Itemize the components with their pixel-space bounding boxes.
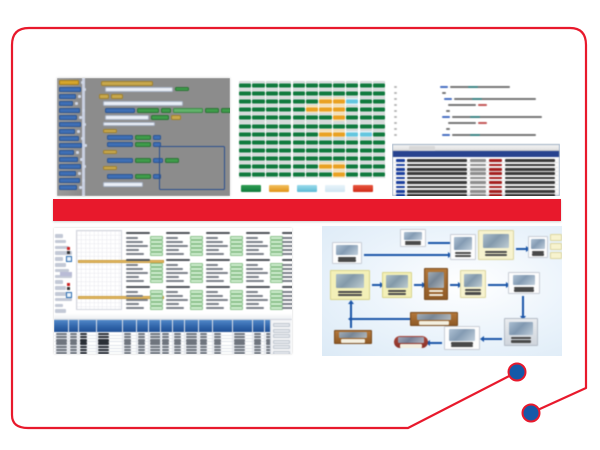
palette-item-0 [59, 80, 79, 85]
sheet-chip-1-2-0 [190, 290, 203, 293]
sheet-chip-1-2-4 [190, 306, 203, 309]
sheet-line-0-0-2 [126, 245, 148, 247]
sheet-line-2-1-3 [206, 276, 219, 278]
gantt-schedule-view[interactable] [54, 228, 292, 314]
workspace-block-10 [205, 108, 219, 113]
log-message-2 [407, 168, 467, 171]
node-barcode-label[interactable] [508, 272, 540, 294]
sheet-block-1-1 [166, 259, 204, 283]
sheet-chip-1-0-4 [190, 252, 203, 255]
node-barcode-scanner-label-1 [511, 340, 531, 342]
log-code-6 [489, 186, 502, 189]
palette-item-dot-13 [78, 172, 81, 176]
panel-code-and-log[interactable] [392, 82, 560, 196]
sheet-block-title-4-0 [282, 232, 292, 234]
palette-item-15 [59, 185, 77, 190]
node-checklist-panel-pictogram [483, 234, 509, 249]
log-level-1 [396, 164, 405, 167]
node-unloading[interactable] [382, 272, 412, 298]
sheet-chip-1-1-4 [190, 279, 203, 282]
sheet-block-2-2 [206, 286, 244, 310]
sheet-line-3-1-1 [246, 268, 263, 270]
code-keyword-0 [440, 86, 448, 88]
grid-cell-11-7 [333, 171, 345, 178]
log-code-5 [489, 181, 502, 184]
sheet-chip-2-0-0 [230, 236, 243, 239]
panel-spreadsheet[interactable] [54, 228, 292, 354]
node-right-labels[interactable] [550, 234, 562, 258]
node-inbound-complete[interactable] [394, 336, 428, 348]
log-time-2 [470, 168, 486, 171]
sheet-line-1-2-1 [166, 295, 183, 297]
sheet-block-title-2-2 [206, 286, 230, 288]
sheet-line-0-2-0 [126, 291, 138, 293]
node-barcode-scanner-label-0 [511, 337, 531, 339]
sheet-chip-2-2-3 [230, 302, 243, 305]
table-col-divider-0 [68, 320, 69, 354]
table-side-buttons[interactable] [270, 320, 292, 354]
sheet-chip-1-1-0 [190, 263, 203, 266]
sheet-line-0-1-1 [126, 268, 143, 270]
log-time-7 [470, 190, 486, 193]
sheet-block-2-0 [206, 232, 244, 256]
node-unloading-label-0 [388, 290, 406, 292]
sheet-line-1-2-0 [166, 291, 178, 293]
gantt-row-label-13 [55, 309, 66, 313]
log-level-5 [396, 181, 405, 184]
data-table[interactable] [54, 314, 292, 354]
palette-item-dot-1 [83, 88, 86, 92]
sheet-block-4-1 [282, 259, 292, 283]
grid-cell-8-1 [252, 147, 264, 154]
code-keyword-8 [442, 134, 450, 136]
code-text-8 [452, 134, 536, 136]
workspace-block-23 [103, 150, 117, 154]
arrow-nonconform-bridge [350, 318, 410, 320]
sheet-line-2-2-2 [206, 299, 228, 301]
node-quality-check-label-1 [465, 292, 480, 294]
sheet-chip-2-0-3 [230, 248, 243, 251]
gantt-node-0 [66, 256, 72, 262]
node-document-stack[interactable] [528, 236, 548, 258]
sheet-chip-2-2-4 [230, 306, 243, 309]
palette-item-dot-11 [80, 158, 83, 162]
arrow-receiving-to-quality [450, 284, 458, 286]
table-col-divider-4 [136, 320, 137, 354]
sheet-block-title-4-1 [282, 259, 292, 261]
panel-status-grid[interactable] [237, 78, 387, 196]
sheet-line-1-0-0 [166, 237, 178, 239]
sheet-block-0-2 [126, 286, 164, 310]
grid-cell-9-5 [306, 155, 318, 162]
code-keyword-2 [444, 98, 452, 100]
sheet-block-4-2 [282, 286, 292, 310]
node-receiving-area-label-1 [429, 294, 443, 296]
grid-cell-11-8 [346, 171, 358, 178]
sheet-line-1-0-1 [166, 241, 183, 243]
table-col-divider-3 [122, 320, 123, 354]
node-nonconforming-area-label-1 [341, 341, 364, 343]
log-level-6 [396, 186, 405, 189]
workspace-block-21 [135, 142, 151, 147]
palette-item-4 [59, 108, 80, 113]
table-col-divider-9 [198, 320, 199, 354]
sheet-line-3-2-1 [246, 295, 263, 297]
node-quality-check-label-0 [465, 289, 480, 291]
log-detail-4 [505, 177, 555, 180]
node-delivery-truck[interactable] [330, 270, 370, 300]
arrow-unloading-to-receiving [414, 284, 422, 286]
table-col-divider-5 [148, 320, 149, 354]
code-string-3 [478, 104, 487, 106]
blocks-workspace[interactable] [87, 80, 228, 194]
sheet-block-title-3-1 [246, 259, 270, 261]
node-nonconforming-zone-pictogram [417, 314, 452, 320]
sheet-line-4-0-0 [282, 237, 292, 239]
sheet-line-3-0-2 [246, 245, 268, 247]
arrow-scanner-to-terminal [484, 338, 502, 340]
code-text-3 [448, 104, 476, 106]
sheet-block-title-1-1 [166, 259, 190, 261]
sheet-chip-0-2-0 [150, 290, 163, 293]
workspace-block-6 [105, 108, 135, 113]
workspace-block-19 [153, 135, 161, 140]
code-gutter-4 [394, 110, 397, 112]
code-type-2 [472, 98, 482, 100]
arrow-truck-to-unloading [372, 284, 380, 286]
grid-cell-9-1 [252, 155, 264, 162]
table-col-divider-12 [252, 320, 253, 354]
sheet-chip-1-1-1 [190, 267, 203, 270]
workspace-block-15 [103, 122, 155, 126]
grid-cell-11-0 [239, 171, 251, 178]
palette-item-dot-0 [81, 81, 84, 85]
code-type-5 [470, 116, 480, 118]
node-nonconforming-area-pictogram [339, 332, 366, 338]
source-code-editor[interactable] [392, 82, 560, 140]
sheet-chip-0-1-3 [150, 275, 163, 278]
sheet-chip-2-0-4 [230, 252, 243, 255]
sheet-line-0-2-4 [126, 307, 144, 309]
gantt-marker-red-0 [67, 247, 70, 250]
palette-item-3 [59, 101, 73, 106]
legend-idle [325, 185, 345, 192]
sheet-chip-1-2-1 [190, 294, 203, 297]
log-time-0 [470, 159, 486, 162]
node-receiving-area-label-0 [429, 290, 443, 292]
node-right-labels-chip-0 [550, 234, 562, 241]
gantt-marker-red-1 [67, 283, 70, 286]
node-delivery-truck-label-1 [338, 294, 362, 296]
workspace-block-5 [103, 101, 183, 106]
sheet-chip-0-2-2 [150, 298, 163, 301]
sheet-chip-2-1-3 [230, 275, 243, 278]
table-cell-6-1 [70, 352, 77, 354]
gantt-marker-dark-1 [67, 287, 70, 290]
sheet-line-0-0-4 [126, 253, 144, 255]
sheet-chip-2-1-2 [230, 271, 243, 274]
grid-cell-11-10 [373, 171, 385, 178]
sheet-chip-0-1-2 [150, 271, 163, 274]
code-text-2 [454, 98, 536, 100]
node-checklist-panel[interactable] [478, 230, 514, 260]
table-cell-6-2 [80, 352, 87, 354]
log-row-8 [394, 193, 558, 196]
sheet-chip-1-2-2 [190, 298, 203, 301]
node-checklist-panel-label-0 [485, 251, 507, 253]
log-time-1 [470, 164, 486, 167]
palette-item-2 [59, 94, 76, 99]
palette-item-10 [59, 150, 74, 155]
node-scale-equipment[interactable] [400, 229, 426, 247]
palette-item-7 [59, 129, 75, 134]
sheet-line-0-2-2 [126, 299, 148, 301]
log-detail-6 [505, 186, 555, 189]
sheet-chip-2-1-1 [230, 267, 243, 270]
log-message-1 [407, 164, 467, 167]
sheet-chip-2-2-2 [230, 298, 243, 301]
grid-cell-9-8 [346, 155, 358, 162]
code-text-0 [450, 86, 510, 88]
arrow-quality-to-barcode [488, 284, 506, 286]
sheet-chip-0-2-3 [150, 302, 163, 305]
panel-blocks-editor[interactable] [57, 78, 230, 196]
node-inbound-complete-label-1 [400, 346, 422, 348]
sheet-chip-2-2-1 [230, 294, 243, 297]
workspace-block-18 [135, 135, 151, 140]
sheet-line-2-0-3 [206, 249, 219, 251]
legend-fault [353, 185, 373, 192]
log-detail-7 [505, 190, 555, 193]
sheet-line-4-1-3 [282, 276, 292, 278]
gantt-row-label-8 [55, 280, 63, 284]
sheet-block-title-0-0 [126, 232, 150, 234]
log-code-0 [489, 159, 502, 162]
workspace-block-1 [105, 87, 173, 92]
sheet-line-4-2-3 [282, 303, 292, 305]
workspace-block-12 [105, 115, 149, 120]
table-row-6 [54, 351, 292, 354]
legend-available [241, 185, 261, 192]
log-level-7 [396, 190, 405, 193]
table-col-divider-10 [212, 320, 213, 354]
sheet-line-4-1-2 [282, 272, 292, 274]
node-nonconforming-zone[interactable] [410, 312, 458, 326]
code-type-0 [468, 86, 478, 88]
node-delivery-truck-label-0 [338, 291, 362, 293]
log-message-6 [407, 186, 467, 189]
sheet-line-2-1-0 [206, 264, 218, 266]
table-side-button-0 [273, 323, 290, 327]
node-scan-terminal[interactable] [444, 326, 480, 350]
log-level-3 [396, 172, 405, 175]
arrow-scanner-to-terminal-head [480, 336, 484, 342]
sheet-chip-1-1-3 [190, 275, 203, 278]
grid-cell-8-3 [279, 147, 291, 154]
sheet-line-3-1-0 [246, 264, 258, 266]
code-gutter-6 [394, 122, 397, 124]
table-col-divider-6 [160, 320, 161, 354]
sheet-line-4-1-1 [282, 268, 292, 270]
sheet-chip-0-2-1 [150, 294, 163, 297]
sheet-line-4-0-1 [282, 241, 292, 243]
sheet-line-0-0-1 [126, 241, 143, 243]
sheet-line-0-1-3 [126, 276, 139, 278]
sheet-chip-1-0-2 [190, 244, 203, 247]
grid-cell-11-9 [360, 171, 372, 178]
log-detail-3 [505, 172, 555, 175]
node-operator-desk-pictogram [336, 245, 357, 255]
palette-item-8 [59, 136, 79, 141]
sheet-block-1-2 [166, 286, 204, 310]
sheet-line-0-2-3 [126, 303, 139, 305]
table-cell-6-13 [254, 352, 261, 354]
gantt-row-label-1 [55, 240, 66, 244]
sheet-line-1-0-3 [166, 249, 179, 251]
sheet-line-0-0-3 [126, 249, 139, 251]
sheet-line-3-1-3 [246, 276, 259, 278]
node-nonconforming-zone-label-1 [419, 323, 448, 325]
sheet-line-1-2-3 [166, 303, 179, 305]
palette-item-dot-10 [76, 151, 79, 155]
log-message-4 [407, 177, 467, 180]
grid-cell-11-6 [319, 171, 331, 178]
grid-cell-11-5 [306, 171, 318, 178]
panel-logistics-flow[interactable] [322, 226, 562, 356]
log-code-4 [489, 177, 502, 180]
gantt-legend-chip [60, 272, 72, 276]
sheet-line-3-0-0 [246, 237, 258, 239]
sheet-line-2-0-0 [206, 237, 218, 239]
sheet-line-3-1-4 [246, 280, 264, 282]
sheet-line-2-2-0 [206, 291, 218, 293]
sheet-line-2-2-1 [206, 295, 223, 297]
node-receiving-area[interactable] [424, 268, 448, 300]
workspace-block-0 [101, 81, 153, 86]
node-workstation[interactable] [450, 234, 476, 260]
code-gutter-2 [394, 98, 397, 100]
node-quality-check-pictogram [464, 274, 482, 288]
grid-cell-9-4 [293, 155, 305, 162]
sheet-line-1-2-4 [166, 307, 184, 309]
workspace-block-8 [161, 108, 171, 113]
log-code-3 [489, 172, 502, 175]
table-col-divider-13 [264, 320, 265, 354]
code-brace-1 [442, 92, 446, 94]
log-level-8 [396, 194, 405, 196]
node-operator-desk[interactable] [332, 242, 362, 264]
table-side-button-4 [273, 345, 290, 349]
node-quality-check[interactable] [460, 270, 486, 298]
sheet-line-1-1-1 [166, 268, 183, 270]
grid-cell-8-0 [239, 147, 251, 154]
workspace-block-14 [171, 115, 181, 120]
sheet-chip-0-2-4 [150, 306, 163, 309]
node-right-labels-chip-2 [550, 252, 562, 259]
node-nonconforming-area[interactable] [334, 330, 372, 344]
table-col-divider-8 [184, 320, 185, 354]
log-level-2 [396, 168, 405, 171]
grid-cell-11-2 [266, 171, 278, 178]
accent-circle-lower [523, 405, 540, 422]
node-barcode-scanner[interactable] [504, 318, 538, 346]
palette-item-dot-6 [83, 123, 86, 127]
sheet-chip-0-0-3 [150, 248, 163, 251]
status-grid-legend [241, 185, 373, 192]
workspace-block-9 [173, 108, 203, 113]
palette-item-12 [59, 164, 81, 169]
workspace-block-16 [103, 129, 117, 133]
legend-warning [269, 185, 289, 192]
sheet-line-1-1-2 [166, 272, 188, 274]
sheet-line-1-1-0 [166, 264, 178, 266]
workspace-block-32 [103, 182, 143, 187]
node-document-stack-pictogram [531, 239, 545, 249]
sheet-chip-0-0-4 [150, 252, 163, 255]
sheet-block-title-3-0 [246, 232, 270, 234]
log-time-5 [470, 181, 486, 184]
node-barcode-label-pictogram [513, 275, 536, 285]
node-receiving-area-pictogram [428, 272, 445, 288]
log-code-1 [489, 164, 502, 167]
table-col-divider-7 [172, 320, 173, 354]
sheet-line-0-1-4 [126, 280, 144, 282]
table-cell-6-12 [234, 352, 245, 354]
palette-item-13 [59, 171, 76, 176]
palette-item-dot-5 [79, 116, 82, 120]
code-gutter-7 [394, 128, 397, 130]
node-checklist-panel-label-1 [485, 254, 507, 256]
sheet-line-3-2-0 [246, 291, 258, 293]
log-output-console[interactable] [392, 144, 560, 196]
gantt-row-label-4 [55, 257, 63, 261]
node-delivery-truck-pictogram [336, 274, 365, 289]
table-col-divider-1 [78, 320, 79, 354]
decorative-frame [0, 0, 600, 450]
sheet-line-2-1-2 [206, 272, 228, 274]
table-col-divider-2 [96, 320, 97, 354]
grid-cell-11-1 [252, 171, 264, 178]
sheet-chip-1-0-1 [190, 240, 203, 243]
sheet-line-2-2-4 [206, 307, 224, 309]
workspace-block-17 [107, 135, 133, 140]
workspace-block-28 [103, 166, 117, 170]
log-time-8 [470, 194, 486, 196]
sheet-line-4-2-4 [282, 307, 292, 309]
code-type-8 [470, 134, 480, 136]
table-cell-6-11 [214, 352, 221, 354]
code-text-5 [452, 116, 542, 118]
workspace-block-11 [221, 108, 230, 113]
sheet-block-title-0-1 [126, 259, 150, 261]
table-cell-6-5 [138, 352, 145, 354]
palette-item-9 [59, 143, 82, 148]
node-unloading-pictogram [386, 275, 407, 287]
grid-cell-9-6 [319, 155, 331, 162]
grid-cell-9-9 [360, 155, 372, 162]
table-side-button-2 [273, 334, 290, 338]
sheet-chip-0-0-2 [150, 244, 163, 247]
sheet-line-0-1-2 [126, 272, 148, 274]
node-scan-terminal-label-1 [451, 345, 473, 347]
node-scan-terminal-pictogram [449, 329, 475, 340]
node-barcode-scanner-pictogram [509, 322, 533, 336]
log-time-4 [470, 177, 486, 180]
table-cell-6-8 [174, 352, 181, 354]
arrow-terminal-to-complete [430, 342, 442, 344]
table-side-button-3 [273, 340, 290, 344]
log-header-row [393, 151, 559, 157]
